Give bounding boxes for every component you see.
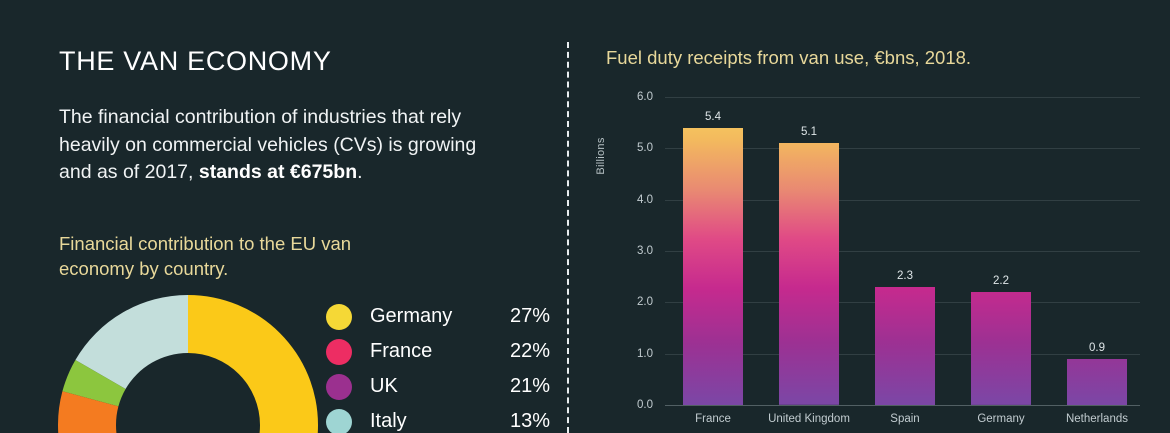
- legend-value-uk: 21%: [510, 375, 550, 398]
- bar-value-netherlands: 0.9: [1067, 342, 1127, 354]
- bar-value-united-kingdom: 5.1: [779, 126, 839, 138]
- legend-value-germany: 27%: [510, 305, 550, 328]
- donut-segment-orange-lower: [58, 425, 126, 433]
- page-title: THE VAN ECONOMY: [59, 46, 332, 77]
- gridline-6: 6.0: [665, 97, 1140, 98]
- intro-text-bold: stands at €675bn: [199, 161, 357, 183]
- intro-paragraph: The financial contribution of industries…: [59, 104, 499, 187]
- gridline-0: 0.0: [665, 405, 1140, 406]
- infographic-page: THE VAN ECONOMY The financial contributi…: [0, 0, 1170, 433]
- bar-netherlands[interactable]: 0.9 Netherlands: [1067, 359, 1127, 405]
- ytick-label-4: 4.0: [637, 194, 653, 206]
- italy-swatch-icon: [326, 409, 352, 433]
- donut-chart: [58, 295, 320, 433]
- bar-chart-plot-area: 6.0 5.0 4.0 3.0 2.0 1.0 0.0 5.4: [665, 97, 1140, 405]
- ytick-label-0: 0.0: [637, 399, 653, 411]
- ytick-label-6: 6.0: [637, 91, 653, 103]
- bar-chart-title: Fuel duty receipts from van use, €bns, 2…: [606, 47, 971, 69]
- legend-item-uk: UK 21%: [326, 369, 558, 404]
- uk-swatch-icon: [326, 374, 352, 400]
- xtick-label-united-kingdom: United Kingdom: [761, 413, 857, 425]
- legend-label-france: France: [370, 340, 432, 363]
- legend-item-italy: Italy 13%: [326, 404, 558, 433]
- legend-label-italy: Italy: [370, 410, 407, 433]
- bar-value-spain: 2.3: [875, 270, 935, 282]
- bar-united-kingdom[interactable]: 5.1 United Kingdom: [779, 143, 839, 405]
- bar-germany[interactable]: 2.2 Germany: [971, 292, 1031, 405]
- left-panel: THE VAN ECONOMY The financial contributi…: [0, 0, 568, 433]
- donut-chart-heading: Financial contribution to the EU van eco…: [59, 231, 389, 281]
- donut-chart-svg: [58, 295, 320, 433]
- legend-label-uk: UK: [370, 375, 398, 398]
- legend-value-italy: 13%: [510, 410, 550, 433]
- y-axis-title: Billions: [595, 111, 607, 201]
- right-panel: Fuel duty receipts from van use, €bns, 2…: [568, 0, 1170, 433]
- xtick-label-france: France: [665, 413, 761, 425]
- bar-spain[interactable]: 2.3 Spain: [875, 287, 935, 405]
- xtick-label-germany: Germany: [953, 413, 1049, 425]
- legend-item-france: France 22%: [326, 334, 558, 369]
- donut-segment-germany-lower: [250, 425, 318, 433]
- legend-label-germany: Germany: [370, 305, 452, 328]
- legend-value-france: 22%: [510, 340, 550, 363]
- xtick-label-netherlands: Netherlands: [1049, 413, 1145, 425]
- ytick-label-3: 3.0: [637, 245, 653, 257]
- ytick-label-5: 5.0: [637, 142, 653, 154]
- legend-item-germany: Germany 27%: [326, 299, 558, 334]
- ytick-label-1: 1.0: [637, 348, 653, 360]
- france-swatch-icon: [326, 339, 352, 365]
- bar-value-france: 5.4: [683, 111, 743, 123]
- xtick-label-spain: Spain: [857, 413, 953, 425]
- ytick-label-2: 2.0: [637, 296, 653, 308]
- bar-france[interactable]: 5.4 France: [683, 128, 743, 405]
- donut-segment-germany: [188, 295, 318, 425]
- intro-text-part2: .: [357, 161, 362, 183]
- bar-value-germany: 2.2: [971, 275, 1031, 287]
- germany-swatch-icon: [326, 304, 352, 330]
- donut-legend: Germany 27% France 22% UK 21% Italy 13%: [326, 299, 558, 433]
